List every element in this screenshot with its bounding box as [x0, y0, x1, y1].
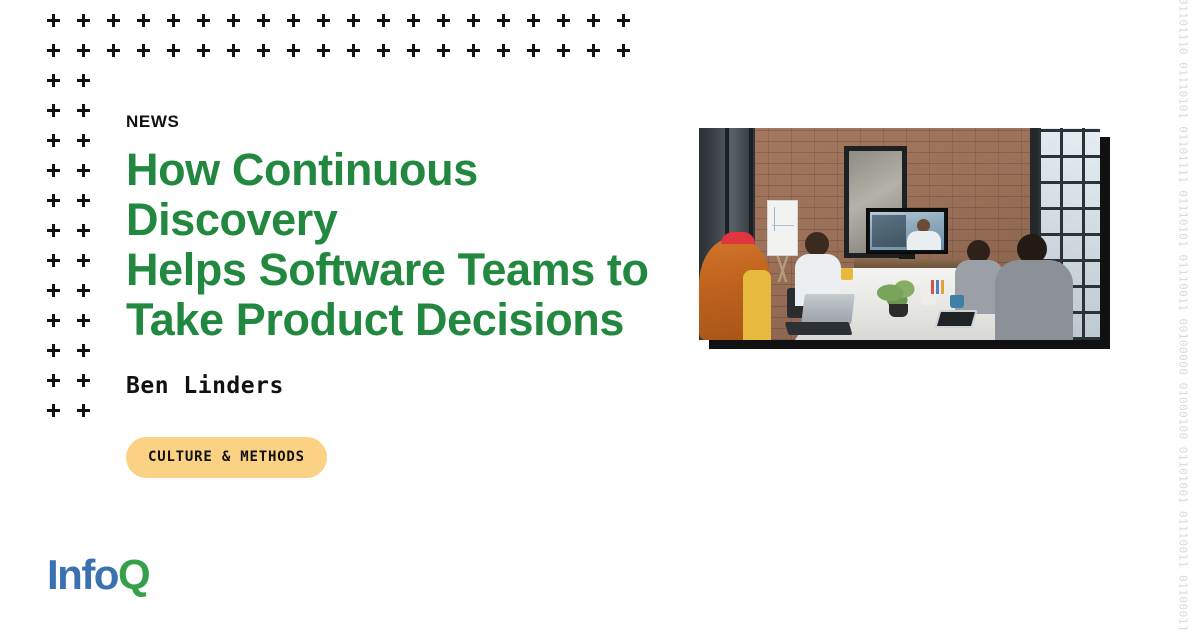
- plus-icon: [497, 44, 510, 57]
- plus-icon: [77, 284, 90, 297]
- plus-icon: [77, 44, 90, 57]
- hero-image-container: [699, 128, 1100, 340]
- article-content: NEWS How Continuous Discovery Helps Soft…: [126, 112, 696, 478]
- binary-text: 01000011 01101111 01101110 01110100 0110…: [1177, 0, 1190, 630]
- plus-icon: [377, 44, 390, 57]
- plus-icon: [47, 164, 60, 177]
- plant-vase: [889, 304, 908, 317]
- author-name: Ben Linders: [126, 373, 696, 399]
- plus-icon: [47, 104, 60, 117]
- plus-icon: [197, 44, 210, 57]
- person-body: [995, 260, 1073, 340]
- plus-icon: [167, 14, 180, 27]
- plus-icon: [47, 404, 60, 417]
- remote-person-body: [907, 231, 941, 250]
- plus-icon: [287, 14, 300, 27]
- headline-line-3: Take Product Decisions: [126, 294, 624, 345]
- plus-icon: [47, 374, 60, 387]
- plus-icon: [527, 14, 540, 27]
- flipchart-board: [767, 200, 798, 256]
- person-headband: [721, 232, 755, 244]
- plus-icon: [257, 44, 270, 57]
- plus-icon: [77, 164, 90, 177]
- plus-icon: [317, 44, 330, 57]
- plus-icon: [587, 14, 600, 27]
- plus-icon: [47, 254, 60, 267]
- hero-image-photo: [699, 128, 1100, 340]
- plus-icon: [137, 44, 150, 57]
- plus-icon: [557, 44, 570, 57]
- plus-icon: [167, 44, 180, 57]
- plus-icon: [77, 344, 90, 357]
- plus-icon: [77, 134, 90, 147]
- person-head: [805, 232, 829, 256]
- pencil-holder: [931, 280, 947, 294]
- topic-tag-culture-and-methods[interactable]: CULTURE & METHODS: [126, 437, 327, 478]
- plus-icon: [227, 44, 240, 57]
- plus-icon: [77, 14, 90, 27]
- plus-icon: [347, 44, 360, 57]
- flipchart-legs: [769, 256, 796, 282]
- plus-icon: [587, 44, 600, 57]
- yellow-cup: [841, 268, 853, 280]
- plus-icon: [377, 14, 390, 27]
- tablet: [934, 310, 977, 328]
- plus-icon: [77, 374, 90, 387]
- screen-content: [870, 212, 944, 250]
- plus-icon: [227, 14, 240, 27]
- page-title: How Continuous Discovery Helps Software …: [126, 145, 696, 345]
- headline-line-1: How Continuous Discovery: [126, 144, 478, 245]
- plus-icon: [617, 44, 630, 57]
- binary-strip: 01000011 01101111 01101110 01110100 0110…: [1166, 0, 1200, 630]
- plus-icon: [77, 74, 90, 87]
- remote-room: [872, 215, 906, 247]
- plus-icon: [497, 14, 510, 27]
- blue-mug: [950, 295, 964, 308]
- plus-icon: [557, 14, 570, 27]
- plus-icon: [47, 14, 60, 27]
- plus-icon: [47, 344, 60, 357]
- plus-icon: [47, 44, 60, 57]
- video-call-screen: [866, 208, 948, 254]
- plus-icon: [287, 44, 300, 57]
- plus-icon: [77, 194, 90, 207]
- headline-line-2: Helps Software Teams to: [126, 244, 649, 295]
- plus-icon: [527, 44, 540, 57]
- plus-icon: [137, 14, 150, 27]
- plus-icon: [107, 14, 120, 27]
- logo-text-q: Q: [118, 551, 149, 598]
- plus-icon: [77, 254, 90, 267]
- category-eyebrow: NEWS: [126, 112, 696, 132]
- plus-icon: [77, 224, 90, 237]
- plus-icon: [77, 104, 90, 117]
- plus-icon: [407, 14, 420, 27]
- plus-icon: [257, 14, 270, 27]
- plus-icon: [47, 314, 60, 327]
- person-foreground-hair: [699, 238, 771, 340]
- plus-icon: [77, 404, 90, 417]
- plus-icon: [437, 44, 450, 57]
- plus-icon: [77, 314, 90, 327]
- plus-icon: [437, 14, 450, 27]
- screen-stand: [899, 254, 915, 259]
- plus-icon: [467, 44, 480, 57]
- plus-icon: [407, 44, 420, 57]
- plus-icon: [47, 74, 60, 87]
- plus-icon: [317, 14, 330, 27]
- infoq-logo[interactable]: InfoQ: [47, 554, 149, 596]
- plus-icon: [347, 14, 360, 27]
- plus-icon: [467, 14, 480, 27]
- logo-text-info: Info: [47, 551, 118, 598]
- plus-icon: [617, 14, 630, 27]
- plus-icon: [47, 134, 60, 147]
- plus-icon: [197, 14, 210, 27]
- plus-icon: [47, 224, 60, 237]
- plus-icon: [107, 44, 120, 57]
- laptop: [801, 294, 855, 324]
- plus-icon: [47, 194, 60, 207]
- plus-icon: [47, 284, 60, 297]
